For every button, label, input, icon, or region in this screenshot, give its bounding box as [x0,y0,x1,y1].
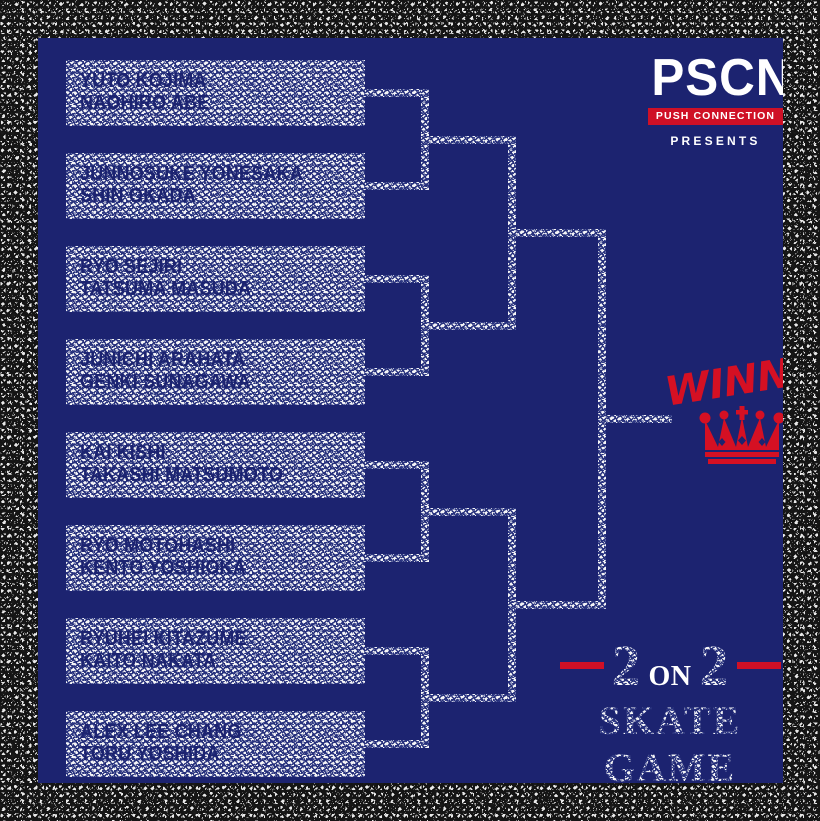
team-line-8a: ALEX LEE CHANG [80,722,337,744]
winner-block: WINNER [660,338,783,473]
number-left: 2 [612,638,641,693]
on-word: ON [649,664,692,691]
team-line-6b: KENTO YOSHIOKA [80,558,337,580]
team-box-7[interactable]: RYUHEI KITAZUME KAITO NAKATA [66,618,365,684]
team-line-5a: KAI KISHI [80,443,337,465]
poster-canvas: YUTO KOJIMA NAOHIRO ABE JUNNOSUKE YONESA… [0,0,820,821]
team-line-7b: KAITO NAKATA [80,651,337,673]
connector-r1-p4-bottom [365,740,429,748]
connector-r2-stem-2 [421,322,516,330]
connector-r2-stem-1 [421,136,516,144]
team-box-3[interactable]: RYO SEJIRI TATSUMA MASUDA [66,246,365,312]
connector-r1-p3-top [365,461,429,469]
connector-r2-stem-3 [421,508,516,516]
team-line-2b: SHIN OKADA [80,186,337,208]
bracket-panel: YUTO KOJIMA NAOHIRO ABE JUNNOSUKE YONESA… [38,38,783,783]
connector-r2-stem-4 [421,694,516,702]
dash-right [737,662,781,669]
team-line-8b: TORU YOSHIDA [80,744,337,766]
connector-r1-p1-top [365,89,429,97]
connector-r1-p4-top [365,647,429,655]
team-line-4a: JUNICHI ARAHATA [80,350,337,372]
connector-r1-p3-bottom [365,554,429,562]
team-line-6a: RYO MOTOHASHI [80,536,337,558]
team-line-3b: TATSUMA MASUDA [80,279,337,301]
team-box-5[interactable]: KAI KISHI TAKASHI MATSUMOTO [66,432,365,498]
team-line-7a: RYUHEI KITAZUME [80,629,337,651]
team-line-1b: NAOHIRO ABE [80,93,337,115]
connector-r3-stem-bottom [508,601,606,609]
connector-r1-p2-bottom [365,368,429,376]
two-on-two-row: 2 ON 2 [535,638,783,693]
team-line-4b: GENKI SUNAGAWA [80,372,337,394]
team-box-8[interactable]: ALEX LEE CHANG TORU YOSHIDA [66,711,365,777]
subtitle: SKATE GAME [535,697,783,783]
team-box-4[interactable]: JUNICHI ARAHATA GENKI SUNAGAWA [66,339,365,405]
connector-r1-p2-top [365,275,429,283]
number-right: 2 [700,638,729,693]
dash-left [560,662,604,669]
pscn-tagline: PUSH CONNECTION [648,108,783,125]
presents-label: PRESENTS [648,134,783,148]
connector-r3-stem-top [508,229,606,237]
team-box-6[interactable]: RYO MOTOHASHI KENTO YOSHIOKA [66,525,365,591]
connector-r1-p1-bottom [365,182,429,190]
team-box-1[interactable]: YUTO KOJIMA NAOHIRO ABE [66,60,365,126]
pscn-wordmark: PSCN [651,54,779,103]
team-line-5b: TAKASHI MATSUMOTO [80,465,337,487]
team-line-2a: JUNNOSUKE YONESAKA [80,164,337,186]
presenter-logo: PSCN PUSH CONNECTION PRESENTS [648,54,783,148]
team-line-3a: RYO SEJIRI [80,257,337,279]
team-line-1a: YUTO KOJIMA [80,71,337,93]
title-block: 2 ON 2 SKATE GAME MORTAR [535,638,783,783]
crown-icon [698,406,783,464]
team-box-2[interactable]: JUNNOSUKE YONESAKA SHIN OKADA [66,153,365,219]
